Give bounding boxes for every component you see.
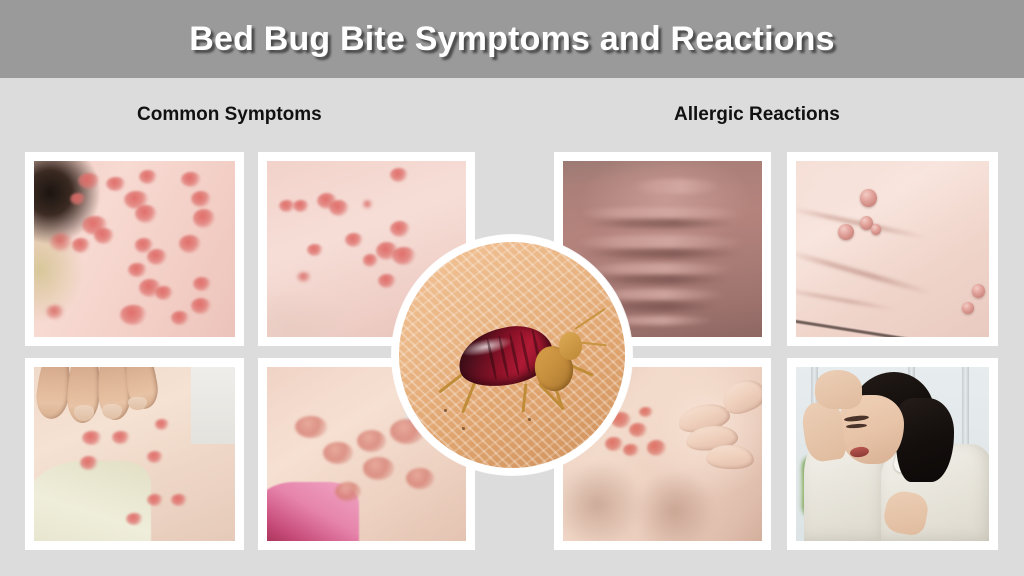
bite-mark <box>293 200 309 212</box>
bite-mark <box>191 298 211 314</box>
welt-bump <box>323 442 353 465</box>
section-heading-allergic-reactions: Allergic Reactions <box>674 104 840 126</box>
hive-welt <box>575 235 746 249</box>
bite-mark <box>392 247 416 265</box>
bite-mark <box>390 221 410 237</box>
bite-mark <box>639 407 653 417</box>
photo-frame-blisters <box>787 152 998 346</box>
bite-mark <box>181 172 201 188</box>
hive-welt-shadow <box>583 219 738 228</box>
welt-bump <box>363 457 395 480</box>
bite-mark <box>50 233 72 251</box>
skin-speck <box>444 409 447 412</box>
skin-speck <box>462 427 465 430</box>
bite-mark <box>363 200 373 209</box>
infographic-poster: Bed Bug Bite Symptoms and Reactions Comm… <box>0 0 1024 576</box>
photo-frame-distressed-woman <box>787 358 998 550</box>
bite-mark <box>147 249 167 265</box>
bite-mark <box>80 456 98 470</box>
page-title: Bed Bug Bite Symptoms and Reactions <box>189 20 835 59</box>
bite-mark <box>171 311 189 325</box>
background-wall <box>191 367 235 444</box>
bite-mark <box>139 170 157 184</box>
bug-leg <box>521 383 527 413</box>
welt-bump <box>406 468 434 489</box>
bite-mark <box>191 191 211 207</box>
photo-blisters <box>796 161 989 337</box>
bite-mark <box>126 513 142 525</box>
bite-mark <box>629 423 647 437</box>
blister-bump <box>838 224 853 240</box>
bite-mark <box>70 193 86 205</box>
section-heading-common-symptoms: Common Symptoms <box>137 104 322 126</box>
bug-antenna <box>575 308 606 330</box>
bite-mark <box>363 254 379 266</box>
bite-mark <box>647 440 667 456</box>
bite-mark <box>307 244 323 256</box>
bug-head <box>559 332 582 359</box>
photo-frame-bites-scattered <box>25 152 244 346</box>
photo-hand-on-arm <box>34 367 235 541</box>
header-bar: Bed Bug Bite Symptoms and Reactions <box>0 0 1024 78</box>
photo-frame-hand-on-arm <box>25 358 244 550</box>
bite-mark <box>72 238 90 252</box>
photo-distressed-woman <box>796 367 989 541</box>
bug-leg <box>438 373 463 393</box>
bite-mark <box>147 494 163 506</box>
hive-welt <box>579 207 742 219</box>
bite-mark <box>94 228 114 244</box>
shoulder-shadow <box>635 471 715 541</box>
skin-speck <box>528 418 531 421</box>
bite-mark <box>155 286 173 300</box>
bite-mark <box>120 305 146 324</box>
photo-bites-scattered <box>34 161 235 337</box>
bite-mark <box>171 494 187 506</box>
bite-mark <box>605 437 623 451</box>
blister-bump <box>962 302 974 314</box>
bite-mark <box>345 233 363 247</box>
bite-mark <box>128 263 146 277</box>
bite-mark <box>193 277 211 291</box>
hand-on-forehead <box>815 370 861 408</box>
towel <box>34 461 151 541</box>
scene-background <box>796 367 989 541</box>
bite-mark <box>329 200 349 216</box>
shoulder-shadow <box>563 461 643 541</box>
bite-mark <box>179 235 201 253</box>
blister-bump <box>860 189 877 207</box>
bite-mark <box>135 205 157 223</box>
welt-bump <box>295 416 327 439</box>
bite-mark <box>155 419 169 429</box>
center-circle-frame <box>392 235 632 475</box>
hair-back <box>896 398 954 482</box>
bed-bug-closeup-photo <box>399 242 625 468</box>
bite-mark <box>193 209 215 228</box>
blister-bump <box>871 224 881 235</box>
bite-mark <box>623 444 639 456</box>
bite-mark <box>147 451 163 463</box>
bite-mark <box>378 274 396 288</box>
hive-welt-shadow <box>579 249 742 258</box>
bite-mark <box>112 431 130 443</box>
welt-bump <box>335 482 361 501</box>
